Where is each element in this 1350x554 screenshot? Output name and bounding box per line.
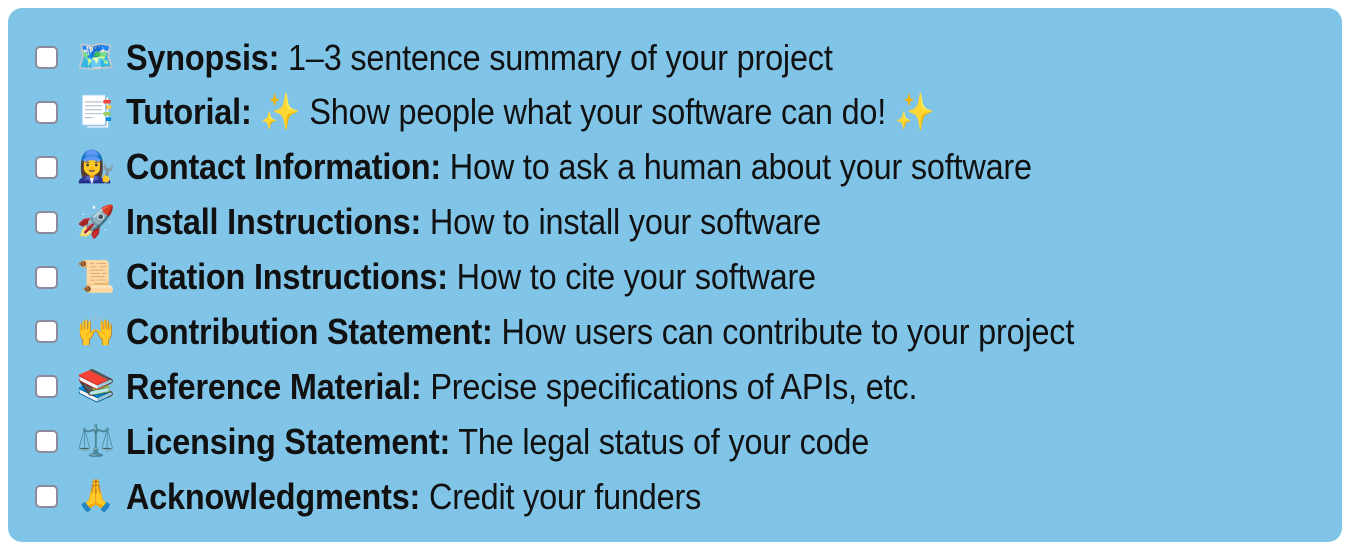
checklist-item-text: Contribution Statement: How users can co… [126, 313, 1074, 351]
world-map-emoji: 🗺️ [68, 42, 124, 73]
checklist-item-description: 1–3 sentence summary of your project [279, 37, 832, 78]
checklist-item-text: Synopsis: 1–3 sentence summary of your p… [126, 39, 833, 77]
rocket-emoji: 🚀 [68, 207, 124, 238]
checklist-checkbox[interactable] [35, 156, 58, 179]
checklist-item[interactable]: 📑Tutorial: ✨ Show people what your softw… [8, 85, 1342, 140]
checklist-item-title: Licensing Statement: [126, 421, 450, 462]
checklist-item-title: Contribution Statement: [126, 311, 493, 352]
checklist-item[interactable]: 🙌Contribution Statement: How users can c… [8, 304, 1342, 359]
checklist-item[interactable]: 🙏Acknowledgments: Credit your funders [8, 469, 1342, 524]
checklist-item-description: The legal status of your code [450, 421, 869, 462]
checklist-checkbox[interactable] [35, 430, 58, 453]
checklist-checkbox[interactable] [35, 485, 58, 508]
checklist-item-title: Tutorial: [126, 91, 252, 132]
raising-hands-emoji: 🙌 [68, 316, 124, 347]
checklist-item-description: How to ask a human about your software [441, 146, 1032, 187]
checklist-item-title: Install Instructions: [126, 201, 421, 242]
checklist-item[interactable]: 📚Reference Material: Precise specificati… [8, 359, 1342, 414]
checklist-item-description: How users can contribute to your project [493, 311, 1075, 352]
checklist-checkbox[interactable] [35, 375, 58, 398]
bookmark-tabs-emoji: 📑 [68, 97, 124, 128]
woman-mechanic-emoji: 👩‍🔧 [68, 152, 124, 183]
checklist-item-text: Reference Material: Precise specificatio… [126, 368, 917, 406]
checklist-item-description: How to cite your software [448, 256, 816, 297]
checklist-checkbox[interactable] [35, 46, 58, 69]
checklist-item[interactable]: 👩‍🔧Contact Information: How to ask a hum… [8, 140, 1342, 195]
checklist-item-text: Citation Instructions: How to cite your … [126, 258, 816, 296]
checklist-checkbox[interactable] [35, 320, 58, 343]
checklist-item-text: Contact Information: How to ask a human … [126, 148, 1032, 186]
checklist-item-description: Credit your funders [420, 476, 701, 517]
checklist-item-text: Install Instructions: How to install you… [126, 203, 821, 241]
checklist-item-description: How to install your software [421, 201, 821, 242]
checklist-checkbox[interactable] [35, 211, 58, 234]
checklist-item-title: Contact Information: [126, 146, 441, 187]
checklist-item-text: Acknowledgments: Credit your funders [126, 478, 701, 516]
balance-scale-emoji: ⚖️ [68, 426, 124, 457]
folded-hands-emoji: 🙏 [68, 481, 124, 512]
checklist-item[interactable]: ⚖️Licensing Statement: The legal status … [8, 414, 1342, 469]
scroll-emoji: 📜 [68, 262, 124, 293]
checklist-checkbox[interactable] [35, 101, 58, 124]
books-emoji: 📚 [68, 371, 124, 402]
checklist-checkbox[interactable] [35, 266, 58, 289]
checklist-item-text: Tutorial: ✨ Show people what your softwa… [126, 93, 935, 131]
checklist-item-description: Precise specifications of APIs, etc. [422, 366, 918, 407]
checklist-item[interactable]: 🗺️Synopsis: 1–3 sentence summary of your… [8, 30, 1342, 85]
checklist-item-title: Reference Material: [126, 366, 422, 407]
checklist-item[interactable]: 📜Citation Instructions: How to cite your… [8, 250, 1342, 305]
documentation-checklist-panel: 🗺️Synopsis: 1–3 sentence summary of your… [8, 8, 1342, 542]
checklist-item-title: Citation Instructions: [126, 256, 448, 297]
checklist-item-description: ✨ Show people what your software can do!… [252, 91, 936, 132]
checklist-item-text: Licensing Statement: The legal status of… [126, 423, 869, 461]
checklist-item[interactable]: 🚀Install Instructions: How to install yo… [8, 195, 1342, 250]
checklist-item-title: Synopsis: [126, 37, 279, 78]
checklist-item-title: Acknowledgments: [126, 476, 420, 517]
